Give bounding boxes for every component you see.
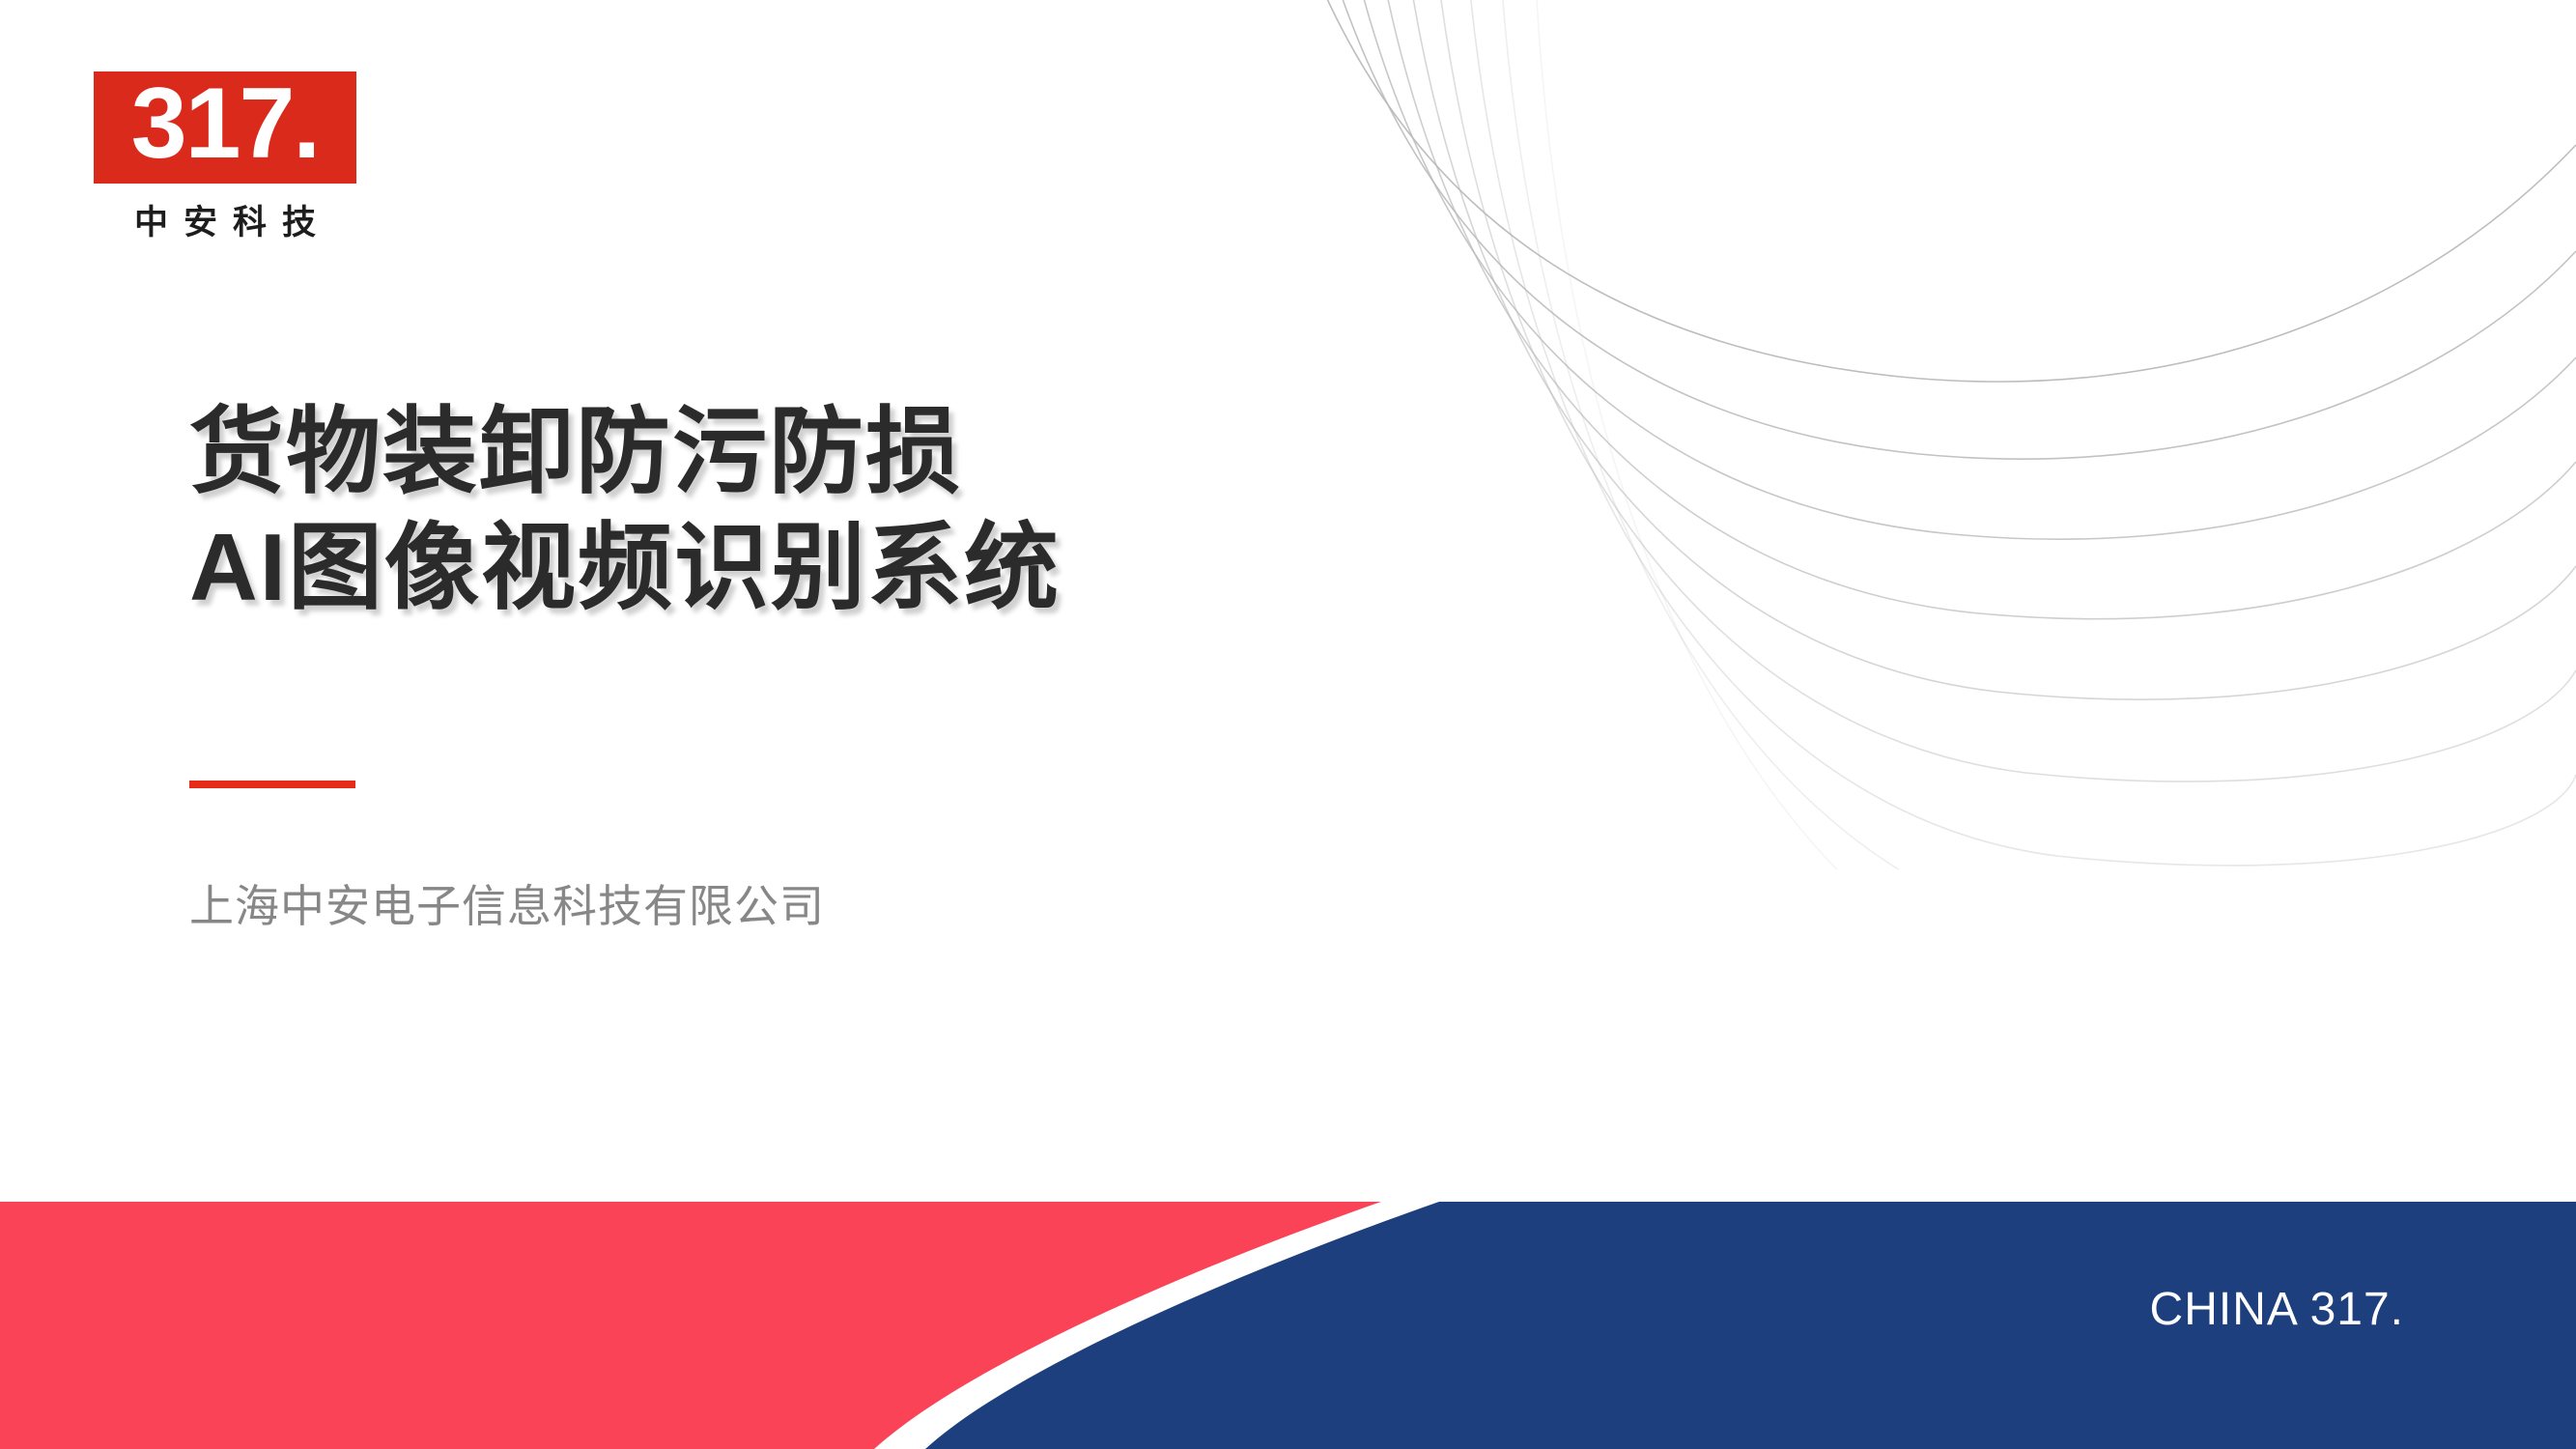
curved-lines-decoration <box>1301 0 2576 869</box>
title-line-1: 货物装卸防污防损 <box>189 394 1445 510</box>
page-title: 货物装卸防污防损 AI图像视频识别系统 <box>189 394 1445 625</box>
logo-mark-text: 317. <box>131 73 319 174</box>
footer-band: CHINA 317. <box>0 1202 2576 1449</box>
title-divider <box>189 781 355 788</box>
company-name-subtitle: 上海中安电子信息科技有限公司 <box>189 879 825 935</box>
logo-mark: 317. <box>94 71 356 184</box>
logo-subtext: 中安科技 <box>94 195 356 244</box>
slide-canvas: 317. 中安科技 货物装卸防污防损 AI图像视频识别系统 上海中安电子信息科技… <box>0 0 2576 1449</box>
footer-brand-label: CHINA 317. <box>2150 1287 2404 1333</box>
company-logo: 317. 中安科技 <box>94 71 356 244</box>
title-line-2: AI图像视频识别系统 <box>189 510 1445 626</box>
